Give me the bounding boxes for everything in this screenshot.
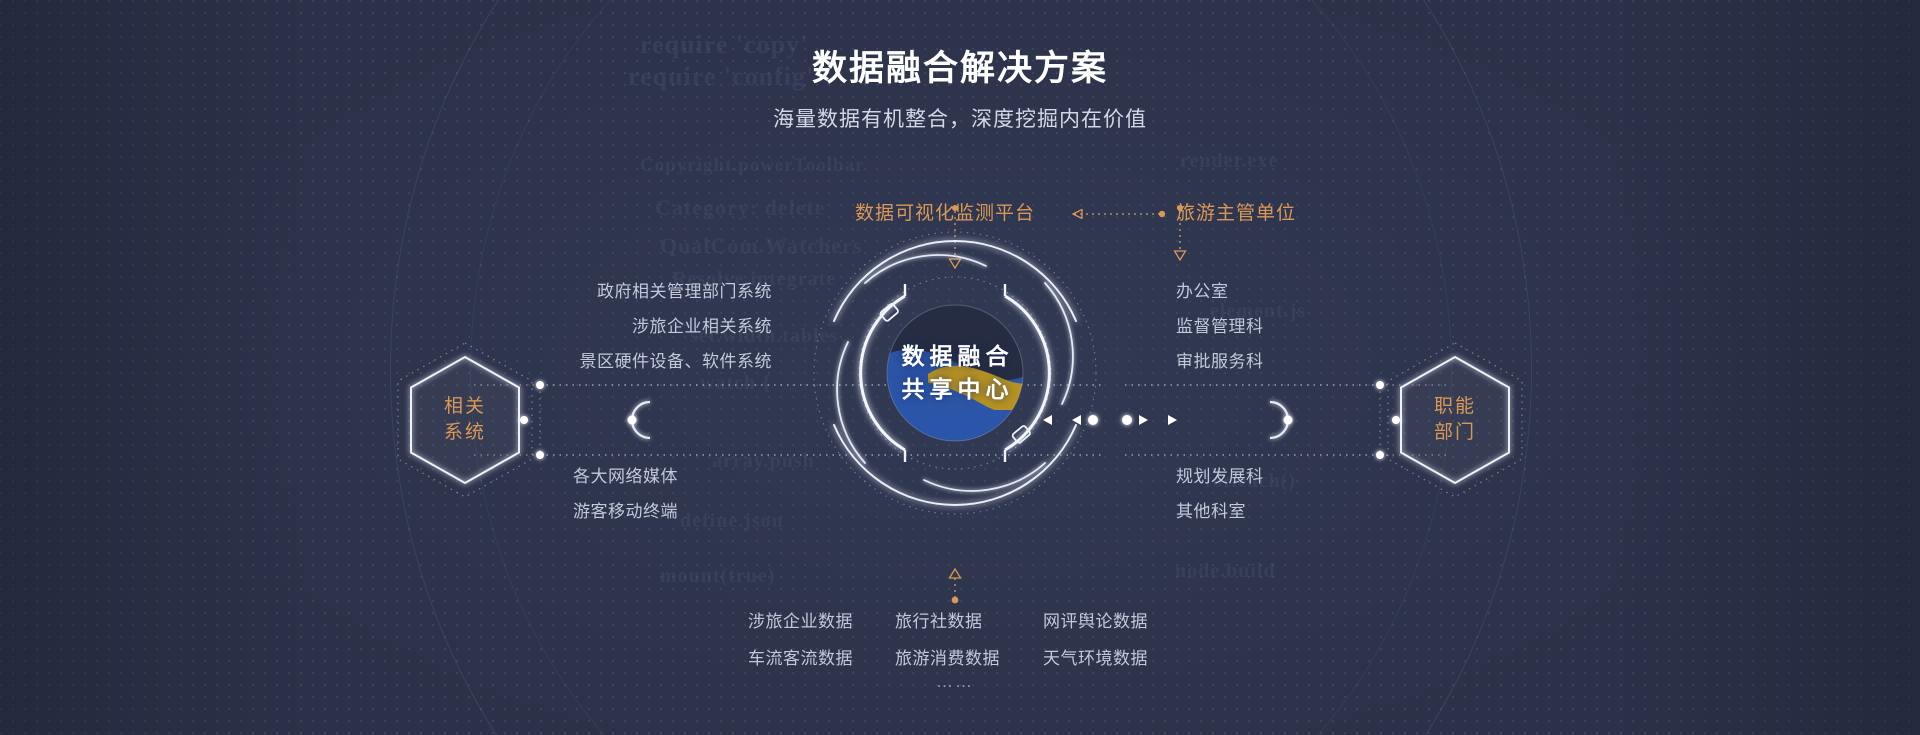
label-right-department: 审批服务科: [1176, 347, 1264, 372]
background-code-line: array.push: [712, 450, 815, 473]
label-left-source: 景区硬件设备、软件系统: [580, 347, 773, 372]
hexagon-left-line2: 系统: [444, 420, 486, 446]
label-left-source: 政府相关管理部门系统: [597, 277, 772, 302]
background-code-line: node.build: [1175, 560, 1276, 583]
hexagon-right-line1: 职能: [1434, 394, 1476, 420]
background-code-line: mount(true): [660, 565, 775, 588]
page-title: 数据融合解决方案: [0, 40, 1920, 91]
center-hub[interactable]: 数据融合 共享中心: [810, 228, 1100, 518]
label-left-source: 游客移动终端: [573, 497, 678, 522]
background-code-line: Category: delete: [655, 195, 826, 221]
label-left-source: 涉旅企业相关系统: [632, 312, 772, 337]
background-code-line: watch {: [700, 372, 771, 395]
label-left-source: 各大网络媒体: [573, 462, 678, 487]
center-line1: 数据融合: [897, 340, 1014, 373]
background-code-line: define.json: [680, 510, 784, 533]
label-right-department: 办公室: [1176, 277, 1229, 302]
hexagon-left-text: 相关 系统: [406, 354, 524, 486]
label-bottom-data-type: 车流客流数据: [748, 644, 853, 669]
label-bottom-data-type: 网评舆论数据: [1043, 607, 1148, 632]
label-bottom-data-type: 涉旅企业数据: [748, 607, 853, 632]
label-bottom-data-type: 旅行社数据: [895, 607, 983, 632]
label-right-department: 监督管理科: [1176, 312, 1264, 337]
top-connector-arrow: [1062, 209, 1166, 219]
label-bottom-data-type: 天气环境数据: [1043, 644, 1148, 669]
center-hub-text: 数据融合 共享中心: [810, 228, 1100, 518]
label-bottom-data-type: 旅游消费数据: [895, 644, 1000, 669]
label-right-department: 规划发展科: [1176, 462, 1264, 487]
background-code-line: Copyright.powerToolbar: [640, 155, 865, 177]
label-tourism-authority: 旅游主管单位: [1176, 198, 1296, 225]
label-right-department: 其他科室: [1176, 497, 1246, 522]
page-subtitle: 海量数据有机整合，深度挖掘内在价值: [0, 103, 1920, 133]
hexagon-right-line2: 部门: [1434, 420, 1476, 446]
hexagon-right-text: 职能 部门: [1396, 354, 1514, 486]
background-code-line: render.exe: [1180, 150, 1278, 173]
label-visualization-platform: 数据可视化监测平台: [855, 198, 1035, 225]
hexagon-left-line1: 相关: [444, 394, 486, 420]
hexagon-related-systems[interactable]: 相关 系统: [406, 354, 524, 486]
hexagon-functional-departments[interactable]: 职能 部门: [1396, 354, 1514, 486]
bottom-ellipsis: ……: [936, 672, 974, 692]
center-line2: 共享中心: [897, 373, 1014, 406]
infographic-page: require 'copy'require 'config'Copyright.…: [0, 0, 1920, 735]
